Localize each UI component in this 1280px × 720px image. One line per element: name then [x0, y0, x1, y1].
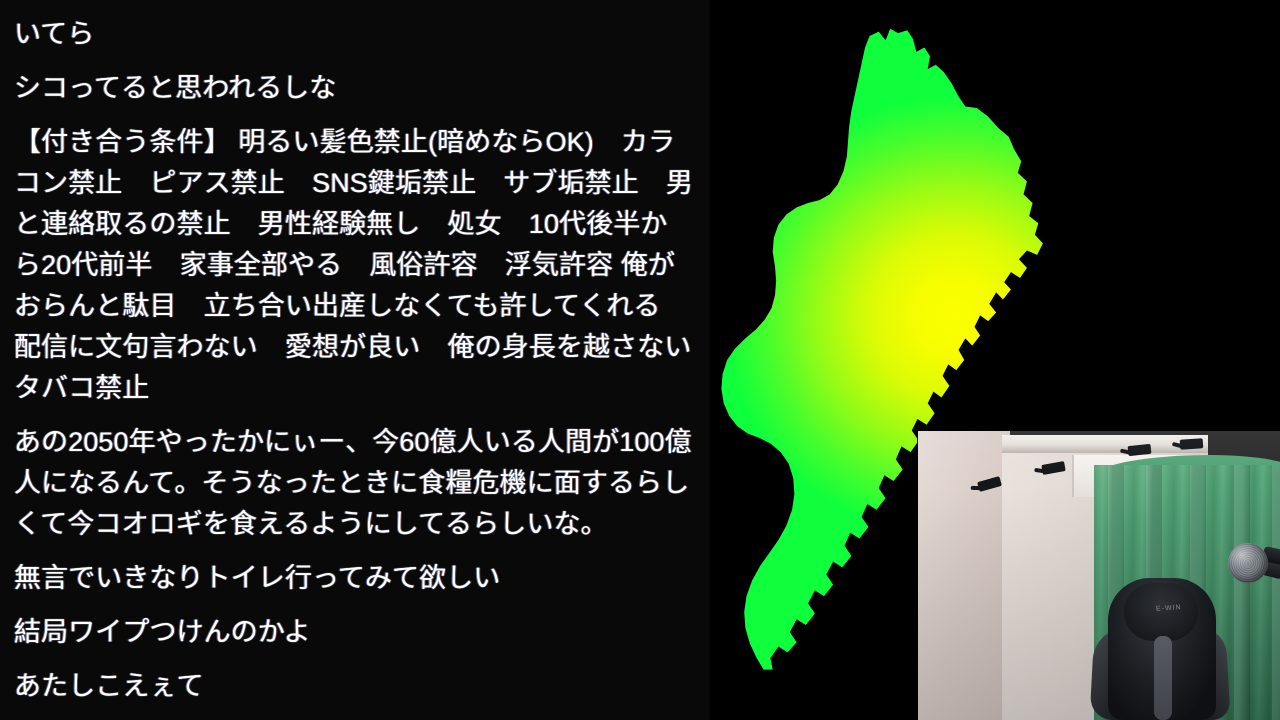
comment-line: あの2050年やったかにぃー、今60億人いる人間が100億人になるんて。そうなっ…	[14, 422, 694, 545]
comment-line: あたしこえぇて	[14, 666, 694, 707]
comment-line: いてら	[14, 14, 694, 55]
stream-canvas: いてら シコってると思われるしな 【付き合う条件】 明るい髪色禁止(暗めならOK…	[0, 0, 1280, 720]
microphone-icon	[1228, 543, 1268, 583]
comment-line: シコってると思われるしな	[14, 68, 694, 109]
chair-center-stripe	[1154, 636, 1172, 720]
wall-background	[918, 431, 1010, 720]
curtain-fold	[1234, 465, 1250, 720]
binder-clip-icon	[1180, 438, 1204, 450]
comment-line: 【付き合う条件】 明るい髪色禁止(暗めならOK) カラコン禁止 ピアス禁止 SN…	[14, 122, 694, 409]
webcam-overlay[interactable]: E-WIN	[918, 431, 1280, 720]
comment-telop-panel: いてら シコってると思われるしな 【付き合う条件】 明るい髪色禁止(暗めならOK…	[0, 0, 710, 720]
comment-line: 結局ワイプつけんのかよ	[14, 612, 694, 653]
curtain-fold	[1272, 465, 1280, 720]
comment-line: 無言でいきなりトイレ行ってみて欲しい	[14, 558, 694, 599]
